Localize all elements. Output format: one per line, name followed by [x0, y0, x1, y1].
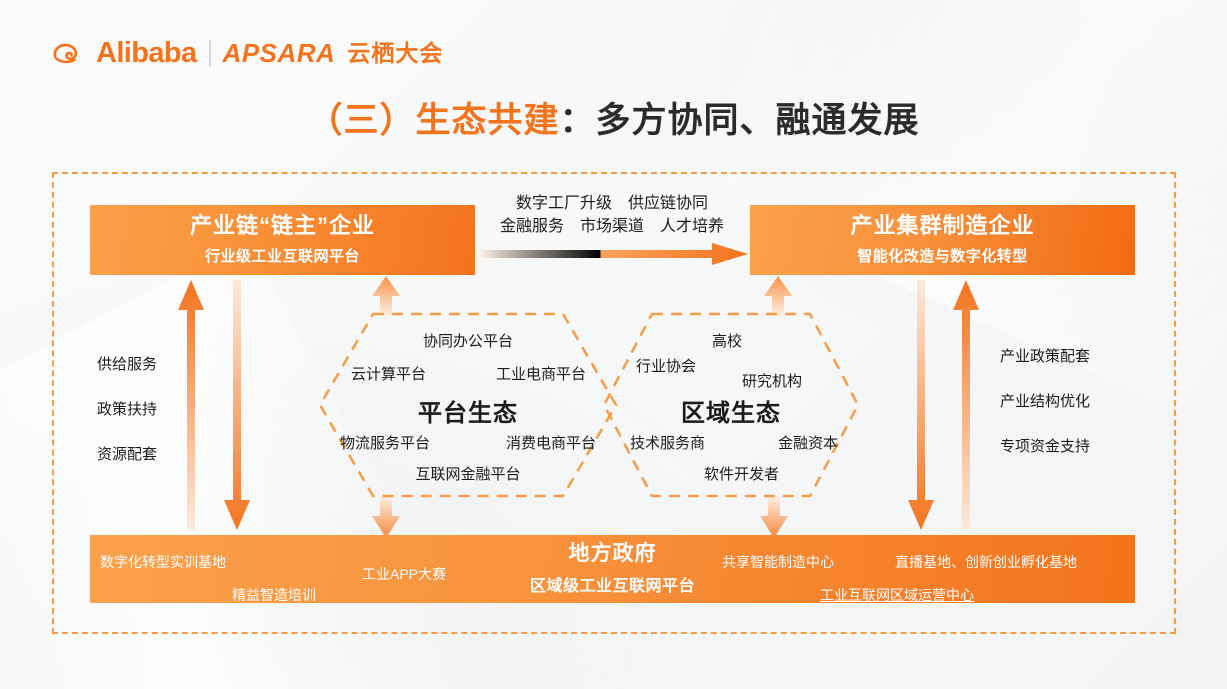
left-label-1: 供给服务: [97, 357, 157, 372]
top-left-box-subtitle: 行业级工业互联网平台: [205, 245, 360, 266]
left-label-3: 资源配套: [97, 447, 157, 462]
hex-left-item-5: 消费电商平台: [506, 432, 596, 453]
right-arrow-icon: [480, 243, 748, 265]
right-down-arrow-icon: [908, 280, 934, 530]
top-left-box-title: 产业链“链主”企业: [190, 214, 375, 238]
center-flow-line-1: 数字工厂升级 供应链协同: [478, 192, 746, 215]
hex-left-down-arrow-icon: [372, 496, 400, 538]
alibaba-apsara-logo: Alibaba APSARA 云栖大会: [50, 36, 443, 70]
logo-apsara-text: APSARA: [223, 40, 336, 66]
hex-left-item-4: 物流服务平台: [340, 432, 430, 453]
right-up-arrow-icon: [953, 280, 979, 530]
right-label-1: 产业政策配套: [1000, 349, 1090, 364]
hex-left-item-1: 协同办公平台: [318, 330, 618, 351]
top-left-box[interactable]: 产业链“链主”企业 行业级工业互联网平台: [90, 205, 475, 275]
hex-left-item-6: 互联网金融平台: [318, 463, 618, 484]
alibaba-ali-icon: [50, 36, 84, 70]
hex-left-up-arrow-icon: [372, 276, 400, 316]
top-right-box[interactable]: 产业集群制造企业 智能化改造与数字化转型: [750, 205, 1135, 275]
hex-right-down-arrow-icon: [760, 496, 788, 538]
hex-left-item-2: 云计算平台: [351, 363, 426, 384]
right-label-column: 产业政策配套 产业结构优化 专项资金支持: [1000, 349, 1090, 484]
hex-right-item-4: 技术服务商: [630, 432, 705, 453]
right-label-2: 产业结构优化: [1000, 394, 1090, 409]
hex-right-item-5: 金融资本: [778, 432, 838, 453]
bottom-right-item-2: 直播基地、创新创业孵化基地: [895, 552, 1077, 572]
bottom-bar-title: 地方政府: [569, 542, 657, 565]
top-right-box-title: 产业集群制造企业: [850, 214, 1034, 238]
platform-ecosystem-hexagon[interactable]: 协同办公平台 云计算平台 工业电商平台 平台生态 物流服务平台 消费电商平台 互…: [318, 312, 618, 498]
hex-left-item-3: 工业电商平台: [496, 363, 586, 384]
top-right-box-subtitle: 智能化改造与数字化转型: [857, 245, 1028, 266]
left-down-arrow-icon: [224, 280, 250, 530]
title-highlight: 生态共建: [415, 101, 559, 140]
hex-left-title: 平台生态: [318, 393, 618, 428]
logo-chinese-text: 云栖大会: [347, 42, 443, 65]
logo-wordmark: Alibaba: [96, 39, 197, 68]
bottom-bar-subtitle: 区域级工业互联网平台: [530, 572, 695, 596]
hex-right-title: 区域生态: [602, 393, 860, 428]
bottom-right-item-3: 工业互联网区域运营中心: [820, 585, 974, 605]
hex-right-item-2: 行业协会: [636, 355, 696, 376]
hex-right-up-arrow-icon: [764, 276, 792, 316]
bottom-left-item-1: 数字化转型实训基地: [100, 552, 226, 572]
title-rest: ：多方协同、融通发展: [560, 101, 920, 140]
hex-left-content: 协同办公平台 云计算平台 工业电商平台 平台生态 物流服务平台 消费电商平台 互…: [318, 312, 618, 498]
regional-ecosystem-hexagon[interactable]: 高校 行业协会 研究机构 区域生态 技术服务商 金融资本 软件开发者: [602, 312, 860, 498]
bottom-left-item-2: 精益智造培训: [232, 585, 316, 605]
center-flow-labels: 数字工厂升级 供应链协同 金融服务 市场渠道 人才培养: [478, 192, 746, 238]
right-label-3: 专项资金支持: [1000, 439, 1090, 454]
left-up-arrow-icon: [178, 280, 204, 530]
hex-right-item-6: 软件开发者: [704, 463, 779, 484]
hex-right-item-3: 研究机构: [742, 370, 802, 391]
bottom-right-item-1: 共享智能制造中心: [722, 552, 834, 572]
title-index: （三）: [307, 101, 415, 140]
hex-right-item-1: 高校: [712, 330, 742, 351]
center-flow-line-2: 金融服务 市场渠道 人才培养: [478, 215, 746, 238]
left-label-column: 供给服务 政策扶持 资源配套: [97, 357, 157, 492]
left-label-2: 政策扶持: [97, 402, 157, 417]
bottom-left-item-3: 工业APP大赛: [362, 564, 446, 584]
page-title: （三）生态共建：多方协同、融通发展: [0, 92, 1227, 143]
logo-divider: [209, 40, 211, 67]
hex-right-content: 高校 行业协会 研究机构 区域生态 技术服务商 金融资本 软件开发者: [602, 312, 860, 498]
